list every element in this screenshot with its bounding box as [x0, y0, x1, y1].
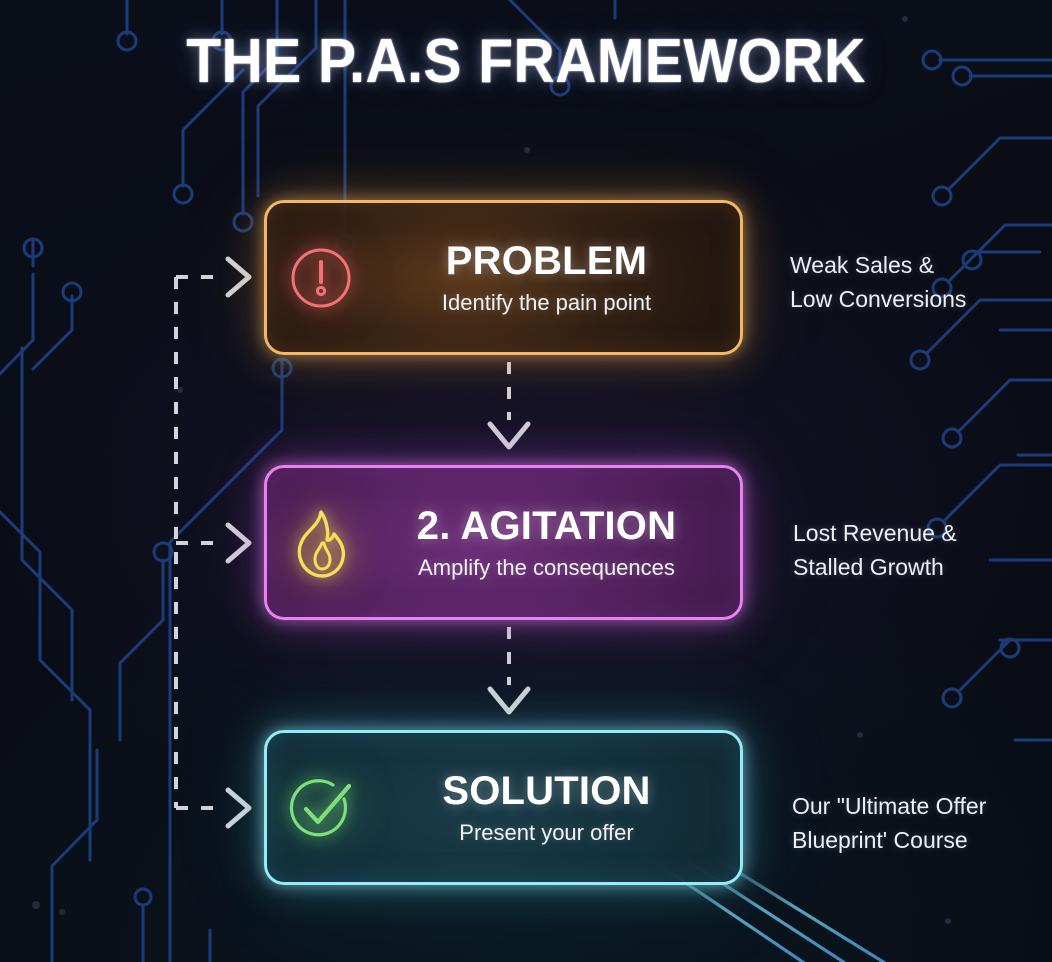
step-card-problem-text: PROBLEM Identify the pain point	[367, 238, 740, 318]
arrowhead-down-solution	[490, 689, 528, 712]
step-title: SOLUTION	[442, 768, 650, 814]
step-subtitle: Present your offer	[459, 818, 633, 848]
check-circle-icon	[275, 773, 367, 843]
step-note-solution: Our "Ultimate Offer Blueprint' Course	[792, 789, 986, 857]
arrowhead-solution	[228, 790, 249, 826]
flame-icon	[275, 507, 367, 579]
page-title: THE P.A.S FRAMEWORK	[42, 26, 1010, 98]
arrowhead-agitation	[228, 525, 249, 561]
arrowhead-problem	[228, 259, 249, 295]
step-card-problem[interactable]: PROBLEM Identify the pain point	[264, 200, 743, 355]
step-card-agitation-text: 2. AGITATION Amplify the consequences	[367, 503, 740, 583]
step-subtitle: Identify the pain point	[442, 288, 651, 318]
arrowhead-down-agitation	[490, 424, 528, 447]
step-card-agitation[interactable]: 2. AGITATION Amplify the consequences	[264, 465, 743, 620]
step-title: 2. AGITATION	[417, 503, 676, 549]
pas-framework-infographic: THE P.A.S FRAMEWORK	[0, 0, 1052, 962]
step-note-problem: Weak Sales & Low Conversions	[790, 248, 966, 316]
step-note-agitation: Lost Revenue & Stalled Growth	[793, 516, 957, 584]
exclamation-circle-icon	[275, 245, 367, 311]
step-subtitle: Amplify the consequences	[418, 553, 675, 583]
step-card-solution-text: SOLUTION Present your offer	[367, 768, 740, 848]
step-title: PROBLEM	[446, 238, 647, 284]
step-card-solution[interactable]: SOLUTION Present your offer	[264, 730, 743, 885]
